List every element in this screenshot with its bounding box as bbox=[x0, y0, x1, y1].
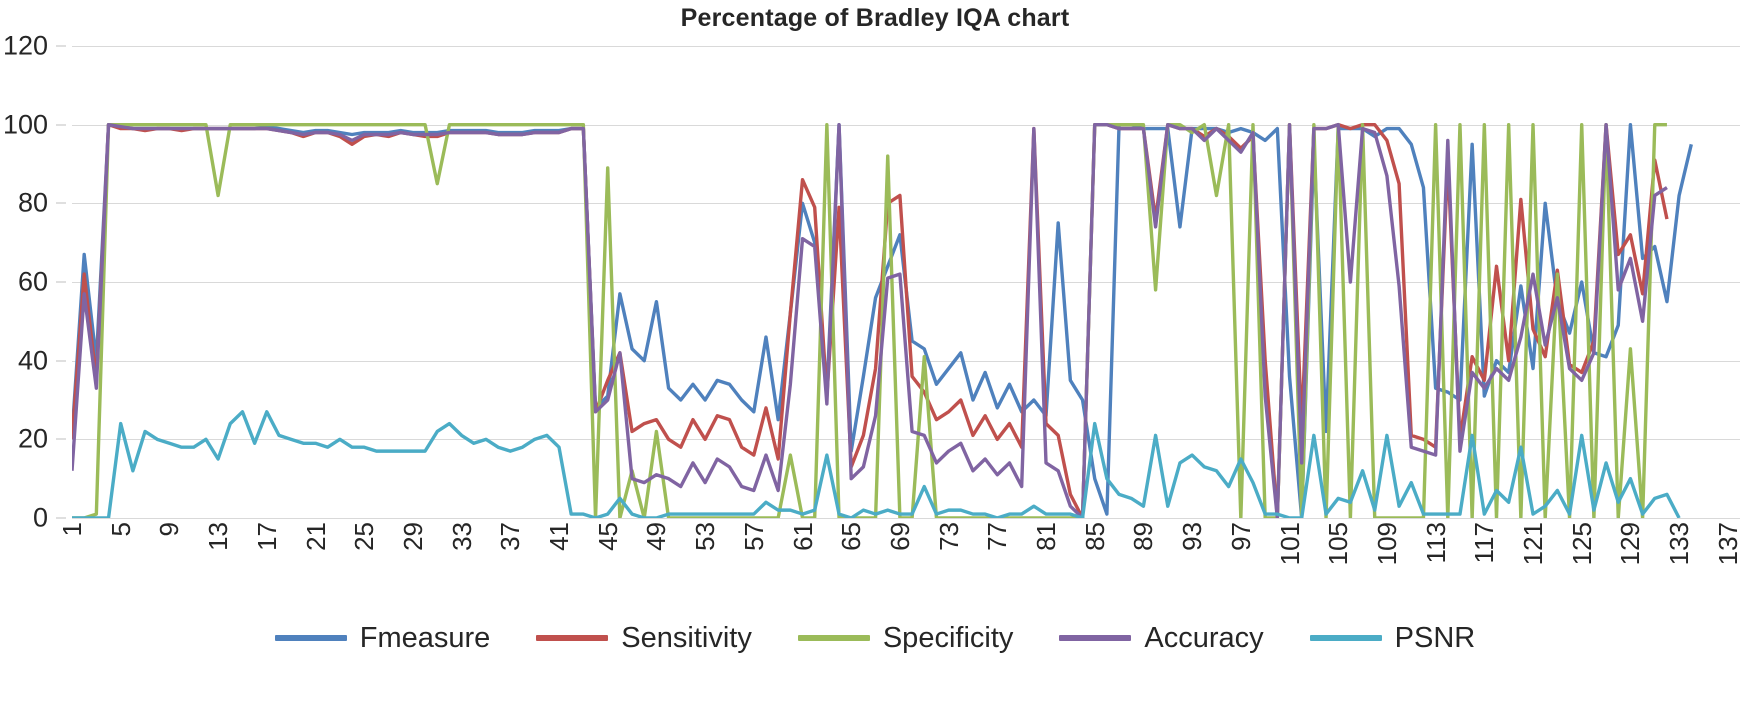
series-lines bbox=[72, 46, 1740, 518]
chart-title: Percentage of Bradley IQA chart bbox=[0, 4, 1750, 33]
y-axis-tick-label: 120 bbox=[3, 31, 48, 62]
y-axis-tick-mark bbox=[56, 124, 66, 125]
x-axis-tick-label: 37 bbox=[497, 522, 523, 551]
x-axis-tick-label: 133 bbox=[1666, 522, 1692, 565]
legend-item-sensitivity[interactable]: Sensitivity bbox=[536, 622, 752, 655]
legend-label: Specificity bbox=[883, 622, 1014, 655]
x-axis-tick-label: 117 bbox=[1471, 522, 1497, 563]
x-axis-tick-label: 49 bbox=[643, 522, 669, 551]
x-axis-tick-label: 113 bbox=[1423, 522, 1449, 563]
y-axis-tick-label: 0 bbox=[33, 503, 48, 534]
x-axis-tick-label: 137 bbox=[1715, 522, 1741, 565]
x-axis-tick-label: 125 bbox=[1569, 522, 1595, 565]
chart-legend: FmeasureSensitivitySpecificityAccuracyPS… bbox=[0, 608, 1750, 668]
x-axis-tick-label: 61 bbox=[790, 522, 816, 551]
x-axis-tick-label: 21 bbox=[303, 522, 329, 551]
x-axis-tick-label: 13 bbox=[205, 522, 231, 551]
legend-swatch-accuracy bbox=[1059, 635, 1131, 641]
series-line-accuracy bbox=[72, 125, 1667, 518]
x-axis-tick-label: 45 bbox=[595, 522, 621, 551]
x-axis-tick-label: 129 bbox=[1617, 522, 1643, 565]
x-axis-tick-label: 121 bbox=[1520, 522, 1546, 565]
y-axis-tick-label: 20 bbox=[18, 424, 48, 455]
x-axis-tick-label: 33 bbox=[449, 522, 475, 551]
x-axis-tick-label: 69 bbox=[887, 522, 913, 551]
x-axis-tick-label: 101 bbox=[1277, 522, 1303, 565]
legend-swatch-psnr bbox=[1310, 635, 1382, 641]
x-axis-tick-label: 25 bbox=[351, 522, 377, 551]
x-axis: 1591317212529333741454953576165697377818… bbox=[72, 518, 1740, 604]
y-axis-tick-mark bbox=[56, 203, 66, 204]
y-axis-tick-label: 100 bbox=[3, 109, 48, 140]
x-axis-tick-label: 29 bbox=[400, 522, 426, 551]
x-axis-tick-label: 85 bbox=[1082, 522, 1108, 551]
x-axis-tick-label: 77 bbox=[984, 522, 1010, 551]
legend-item-psnr[interactable]: PSNR bbox=[1310, 622, 1476, 655]
chart-root: Percentage of Bradley IQA chart 02040608… bbox=[0, 0, 1750, 722]
legend-label: Accuracy bbox=[1144, 622, 1263, 655]
y-axis: 020406080100120 bbox=[0, 46, 62, 518]
legend-label: Sensitivity bbox=[621, 622, 752, 655]
y-axis-tick-mark bbox=[56, 360, 66, 361]
x-axis-tick-label: 5 bbox=[108, 522, 134, 536]
legend-item-accuracy[interactable]: Accuracy bbox=[1059, 622, 1263, 655]
series-line-specificity bbox=[72, 125, 1667, 518]
x-axis-tick-label: 9 bbox=[156, 522, 182, 536]
x-axis-tick-label: 97 bbox=[1228, 522, 1254, 551]
y-axis-tick-mark bbox=[56, 439, 66, 440]
y-axis-tick-label: 40 bbox=[18, 345, 48, 376]
x-axis-tick-label: 89 bbox=[1130, 522, 1156, 551]
y-axis-tick-label: 80 bbox=[18, 188, 48, 219]
x-axis-tick-label: 1 bbox=[59, 522, 85, 536]
x-axis-tick-label: 105 bbox=[1325, 522, 1351, 565]
legend-swatch-sensitivity bbox=[536, 635, 608, 641]
y-axis-tick-mark bbox=[56, 46, 66, 47]
legend-item-fmeasure[interactable]: Fmeasure bbox=[275, 622, 491, 655]
plot-area bbox=[72, 46, 1740, 518]
legend-swatch-fmeasure bbox=[275, 635, 347, 641]
legend-item-specificity[interactable]: Specificity bbox=[798, 622, 1014, 655]
series-line-sensitivity bbox=[72, 125, 1667, 518]
x-axis-tick-label: 57 bbox=[741, 522, 767, 551]
x-axis-tick-label: 93 bbox=[1179, 522, 1205, 551]
x-axis-tick-label: 17 bbox=[254, 522, 280, 551]
x-axis-tick-label: 53 bbox=[692, 522, 718, 551]
y-axis-tick-label: 60 bbox=[18, 267, 48, 298]
x-axis-tick-label: 109 bbox=[1374, 522, 1400, 565]
legend-label: Fmeasure bbox=[360, 622, 491, 655]
x-axis-tick-label: 81 bbox=[1033, 522, 1059, 551]
x-axis-tick-label: 41 bbox=[546, 522, 572, 551]
x-axis-tick-label: 73 bbox=[936, 522, 962, 551]
legend-label: PSNR bbox=[1395, 622, 1476, 655]
y-axis-tick-mark bbox=[56, 518, 66, 519]
y-axis-tick-mark bbox=[56, 282, 66, 283]
x-axis-tick-label: 65 bbox=[838, 522, 864, 551]
legend-swatch-specificity bbox=[798, 635, 870, 641]
